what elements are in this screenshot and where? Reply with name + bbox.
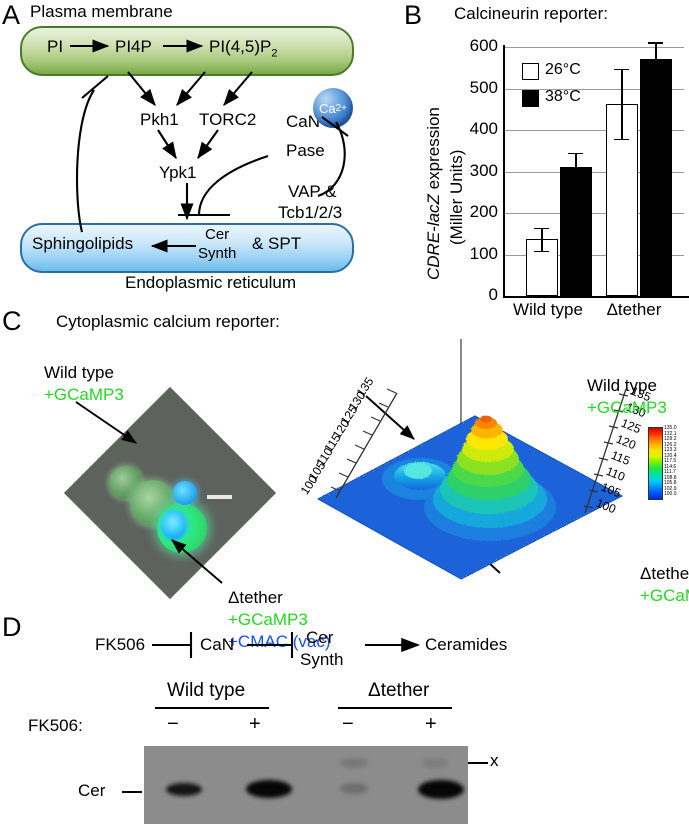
legend-swatch-38c [522, 90, 539, 107]
errorbar-dtether-26c [621, 69, 623, 139]
errorcap-bottom-dtether-26c [614, 139, 629, 141]
legend-label-26c: 26°C [545, 61, 581, 79]
ytick-100: 100 [456, 244, 498, 264]
panel-b-letter: B [404, 2, 422, 29]
group-rule-wild-type [155, 707, 269, 709]
band-lane4-marker-x [422, 758, 448, 768]
group-rule-dtether [338, 707, 452, 709]
surface-plot: 135 130 125 120 115 110 105 100 135 130 … [300, 331, 689, 606]
chart-ylabel-line2: (Miller Units) [447, 150, 467, 245]
lane-sign-3: − [342, 713, 354, 736]
band-lane3-marker-x [340, 758, 368, 768]
surface-wt-label-line1: Wild type [587, 376, 657, 396]
errorcap-bottom-dtether-38c [648, 75, 663, 77]
band-lane3-cer [340, 783, 368, 794]
errorbar-dtether-38c [655, 42, 657, 74]
band-lane1-cer [166, 783, 202, 796]
panel-c: C Cytoplasmic calcium reporter: Wild typ… [0, 306, 689, 606]
gridline-600 [504, 47, 684, 48]
row-label-fk506: FK506: [28, 716, 83, 736]
legend-swatch-26c [522, 63, 539, 80]
errorcap-top-dtether-38c [648, 42, 663, 44]
band-lane2-cer [246, 780, 292, 798]
surface-wt-label-line2: +GCaMP3 [587, 398, 667, 418]
cbar-label-12: 100.0 [664, 492, 677, 497]
ytick-0: 0 [456, 285, 498, 305]
ytick-500: 500 [456, 78, 498, 98]
errorbar-wildtype-26c [541, 228, 543, 251]
group-label-wild-type: Wild type [167, 680, 245, 702]
surface-dtether-label-line2: +GCaMP3 [640, 586, 689, 606]
surface-dtether-label-line1: Δtether [640, 564, 689, 584]
chart-plot-area: 26°C 38°C [504, 47, 684, 296]
errorcap-top-wildtype-26c [534, 228, 549, 230]
panel-b-title: Calcineurin reporter: [454, 4, 608, 24]
bar-wildtype-38c [560, 167, 592, 296]
surface-colorbar [648, 427, 663, 500]
panel-a-connectors [0, 0, 400, 305]
gel-blot [144, 746, 468, 824]
band-lane4-cer [418, 780, 464, 799]
errorcap-bottom-wildtype-26c [534, 251, 549, 253]
chart-x-axis [503, 296, 689, 298]
surface-plot-svg [300, 331, 689, 606]
lane-sign-1: − [167, 713, 179, 736]
errorcap-top-dtether-26c [614, 69, 629, 71]
bar-dtether-38c [640, 59, 672, 296]
group-label-dtether: Δtether [368, 680, 429, 702]
panel-d: D FK506 CaN Cer Synth Ceramides Wild typ… [0, 606, 689, 824]
chart-ylabel-line1: CDRE-lacZ expression [424, 107, 444, 280]
errorcap-bottom-wildtype-38c [568, 182, 583, 184]
ylabel-italic: CDRE-lacZ [424, 194, 443, 280]
errorbar-wildtype-38c [575, 153, 577, 182]
ytick-600: 600 [456, 36, 498, 56]
lane-sign-4: + [425, 713, 437, 736]
ytick-400: 400 [456, 119, 498, 139]
gel-tick-x [468, 762, 488, 764]
gel-label-cer: Cer [78, 781, 105, 801]
chart-y-axis [503, 45, 505, 298]
panel-b: B Calcineurin reporter: [404, 0, 689, 322]
gel-label-x: x [490, 751, 499, 771]
panel-a: A Plasma membrane PI PI4P PI(4,5)P2 Sphi… [0, 0, 400, 305]
legend-label-38c: 38°C [545, 88, 581, 106]
errorcap-top-wildtype-38c [568, 153, 583, 155]
gel-tick-cer [122, 791, 142, 793]
micro-dtether-label-line1: Δtether [228, 588, 283, 608]
lane-sign-2: + [249, 713, 261, 736]
